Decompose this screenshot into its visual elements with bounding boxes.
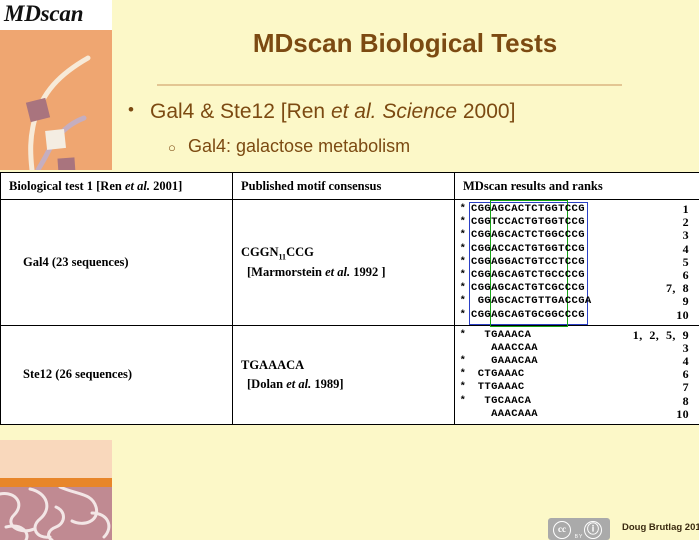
bullet-level2-text: Gal4: galactose metabolism (188, 136, 410, 156)
gal4-cite-pre: [Marmorstein (247, 265, 325, 279)
sequence-rank: 7 (683, 381, 689, 394)
sequence-star-marker: * (455, 229, 471, 242)
sequence-text: CGGAGCACTCTGGTCCG (471, 203, 585, 216)
sequence-star-marker: * (455, 256, 471, 269)
sequence-text: CGGAGCACTCTGGCCCG (471, 229, 585, 242)
sequence-star-marker: * (455, 381, 471, 394)
sequence-text: AAACCAA (471, 342, 538, 355)
sequence-row: *CGGAGGACTGTCCTCCG5 (455, 256, 699, 269)
author-credit: Doug Brutlag 2010 (622, 522, 699, 533)
gal4-consensus-post: CCG (286, 245, 314, 259)
decorative-logo-artwork (0, 30, 112, 170)
mdscan-wordmark: MDscan (0, 0, 112, 30)
bullet-level1: •Gal4 & Ste12 [Ren et al. Science 2000] (128, 100, 515, 124)
sequence-star-marker: * (455, 295, 471, 308)
ste12-consensus: TGAAACA [Dolan et al. 1989] (233, 356, 454, 394)
sequence-star-marker: * (455, 216, 471, 229)
sequence-text: TGCAACA (471, 395, 531, 408)
cell-gal4-consensus: CGGN11CCG [Marmorstein et al. 1992 ] (233, 200, 455, 326)
sequence-row: *CGGAGCACTGTCGCCCG7, 8 (455, 282, 699, 295)
sequence-star-marker: * (455, 309, 471, 322)
sequence-text: TTGAAAC (471, 381, 525, 394)
slide-canvas: MDscan MDscan Bio (0, 0, 699, 540)
sequence-rank: 4 (683, 243, 689, 256)
cc-by-label: BY (548, 534, 610, 540)
sequence-row: * TGAAACA1, 2, 5, 9 (455, 329, 699, 342)
sequence-star-marker: * (455, 395, 471, 408)
ste12-consensus-pre: TGAAACA (241, 358, 304, 372)
sequence-text: GAAACAA (471, 355, 538, 368)
sequence-text: CGGACCACTGTGGTCCG (471, 243, 585, 256)
ste12-sequence-list: * TGAAACA1, 2, 5, 9 AAACCAA3* GAAACAA4* … (455, 326, 699, 424)
dna-curve-illustration (0, 30, 112, 170)
table-row-gal4: Gal4 (23 sequences) CGGN11CCG [Marmorste… (1, 200, 699, 326)
ste12-cite-post: 1989] (311, 377, 343, 391)
bullet-level1-text-before: Gal4 & Ste12 [Ren (150, 100, 331, 123)
title-divider (157, 84, 622, 86)
sequence-text: AAACAAA (471, 408, 538, 421)
ste12-cite-italic: et al. (286, 377, 311, 391)
gal4-label: Gal4 (23 sequences) (1, 255, 232, 270)
orange-stripe (0, 478, 112, 487)
peach-band (0, 440, 112, 478)
sequence-text: CGGTCCACTGTGGTCCG (471, 216, 585, 229)
ste12-cite-pre: [Dolan (247, 377, 286, 391)
sequence-text: CTGAAAC (471, 368, 525, 381)
column-header-biological-test: Biological test 1 [Ren et al. 2001] (1, 173, 233, 200)
sequence-star-marker: * (455, 269, 471, 282)
sequence-star-marker (455, 408, 471, 421)
sequence-row: *CGGACCACTGTGGTCCG4 (455, 243, 699, 256)
sequence-row: * TTGAAAC7 (455, 381, 699, 394)
bullet-level1-italic: et al. Science (331, 100, 457, 123)
col1-header-italic: et al. (125, 179, 150, 193)
ste12-consensus-citation: [Dolan et al. 1989] (241, 375, 454, 394)
sequence-text: CGGAGGACTGTCCTCCG (471, 256, 585, 269)
cell-ste12-results: * TGAAACA1, 2, 5, 9 AAACCAA3* GAAACAA4* … (455, 325, 699, 424)
sequence-star-marker (455, 342, 471, 355)
bullet-level2: ○Gal4: galactose metabolism (168, 136, 410, 157)
column-header-mdscan-results: MDscan results and ranks (455, 173, 699, 200)
sequence-row: *CGGAGCACTCTGGTCCG1 (455, 203, 699, 216)
sequence-row: *CGGTCCACTGTGGTCCG2 (455, 216, 699, 229)
sequence-rank: 10 (676, 408, 689, 421)
sequence-rank: 10 (676, 309, 689, 322)
sequence-text: TGAAACA (471, 329, 531, 342)
decorative-bottom-artwork (0, 440, 112, 540)
gal4-cite-italic: et al. (325, 265, 350, 279)
swirl-pattern (0, 487, 112, 540)
sequence-star-marker: * (455, 203, 471, 216)
sequence-star-marker: * (455, 368, 471, 381)
page-title: MDscan Biological Tests (120, 28, 690, 59)
cell-ste12-consensus: TGAAACA [Dolan et al. 1989] (233, 325, 455, 424)
sequence-star-marker: * (455, 329, 471, 342)
sequence-row: *CGGAGCACTCTGGCCCG3 (455, 229, 699, 242)
biological-tests-table: Biological test 1 [Ren et al. 2001] Publ… (0, 172, 699, 425)
ste12-label: Ste12 (26 sequences) (1, 367, 232, 382)
gal4-sequence-list: *CGGAGCACTCTGGTCCG1*CGGTCCACTGTGGTCCG2*C… (455, 200, 699, 325)
sequence-rank: 9 (683, 295, 689, 308)
sequence-rank: 8 (683, 395, 689, 408)
creative-commons-badge-icon: cc ⓘ BY (548, 518, 610, 540)
sequence-text: CGGAGCAGTGCGGCCCG (471, 309, 585, 322)
gal4-consensus-citation: [Marmorstein et al. 1992 ] (241, 263, 454, 282)
table-row-ste12: Ste12 (26 sequences) TGAAACA [Dolan et a… (1, 325, 699, 424)
sequence-star-marker: * (455, 355, 471, 368)
col1-header-after: 2001] (150, 179, 182, 193)
cell-ste12-name: Ste12 (26 sequences) (1, 325, 233, 424)
gal4-consensus-sub: 11 (279, 252, 287, 261)
sequence-star-marker: * (455, 243, 471, 256)
bullet-level1-text-after: 2000] (457, 100, 515, 123)
sequence-row: * GAAACAA4 (455, 355, 699, 368)
sequence-text: CGGAGCAGTCTGCCCCG (471, 269, 585, 282)
sequence-row: * GGAGCACTGTTGACCGA9 (455, 295, 699, 308)
cell-gal4-name: Gal4 (23 sequences) (1, 200, 233, 326)
sequence-star-marker: * (455, 282, 471, 295)
col1-header-before: Biological test 1 [Ren (9, 179, 125, 193)
sequence-row: * TGCAACA8 (455, 395, 699, 408)
column-header-published-consensus: Published motif consensus (233, 173, 455, 200)
sequence-row: *CGGAGCAGTGCGGCCCG10 (455, 309, 699, 322)
table-header-row: Biological test 1 [Ren et al. 2001] Publ… (1, 173, 699, 200)
bullet-ring-icon: ○ (168, 140, 188, 155)
sequence-row: * CTGAAAC6 (455, 368, 699, 381)
sequence-row: *CGGAGCAGTCTGCCCCG6 (455, 269, 699, 282)
sequence-row: AAACCAA3 (455, 342, 699, 355)
sequence-rank: 5 (683, 256, 689, 269)
sequence-text: CGGAGCACTGTCGCCCG (471, 282, 585, 295)
gal4-consensus-pre: CGGN (241, 245, 279, 259)
bullet-dot-icon: • (128, 100, 150, 120)
cell-gal4-results: *CGGAGCACTCTGGTCCG1*CGGTCCACTGTGGTCCG2*C… (455, 200, 699, 326)
gal4-consensus: CGGN11CCG [Marmorstein et al. 1992 ] (233, 243, 454, 282)
sequence-rank: 1, 2, 5, 9 (633, 329, 689, 342)
sequence-row: AAACAAA10 (455, 408, 699, 421)
sequence-rank: 3 (683, 229, 689, 242)
gal4-cite-post: 1992 ] (350, 265, 385, 279)
swirl-lines (0, 487, 112, 540)
sequence-text: GGAGCACTGTTGACCGA (471, 295, 592, 308)
